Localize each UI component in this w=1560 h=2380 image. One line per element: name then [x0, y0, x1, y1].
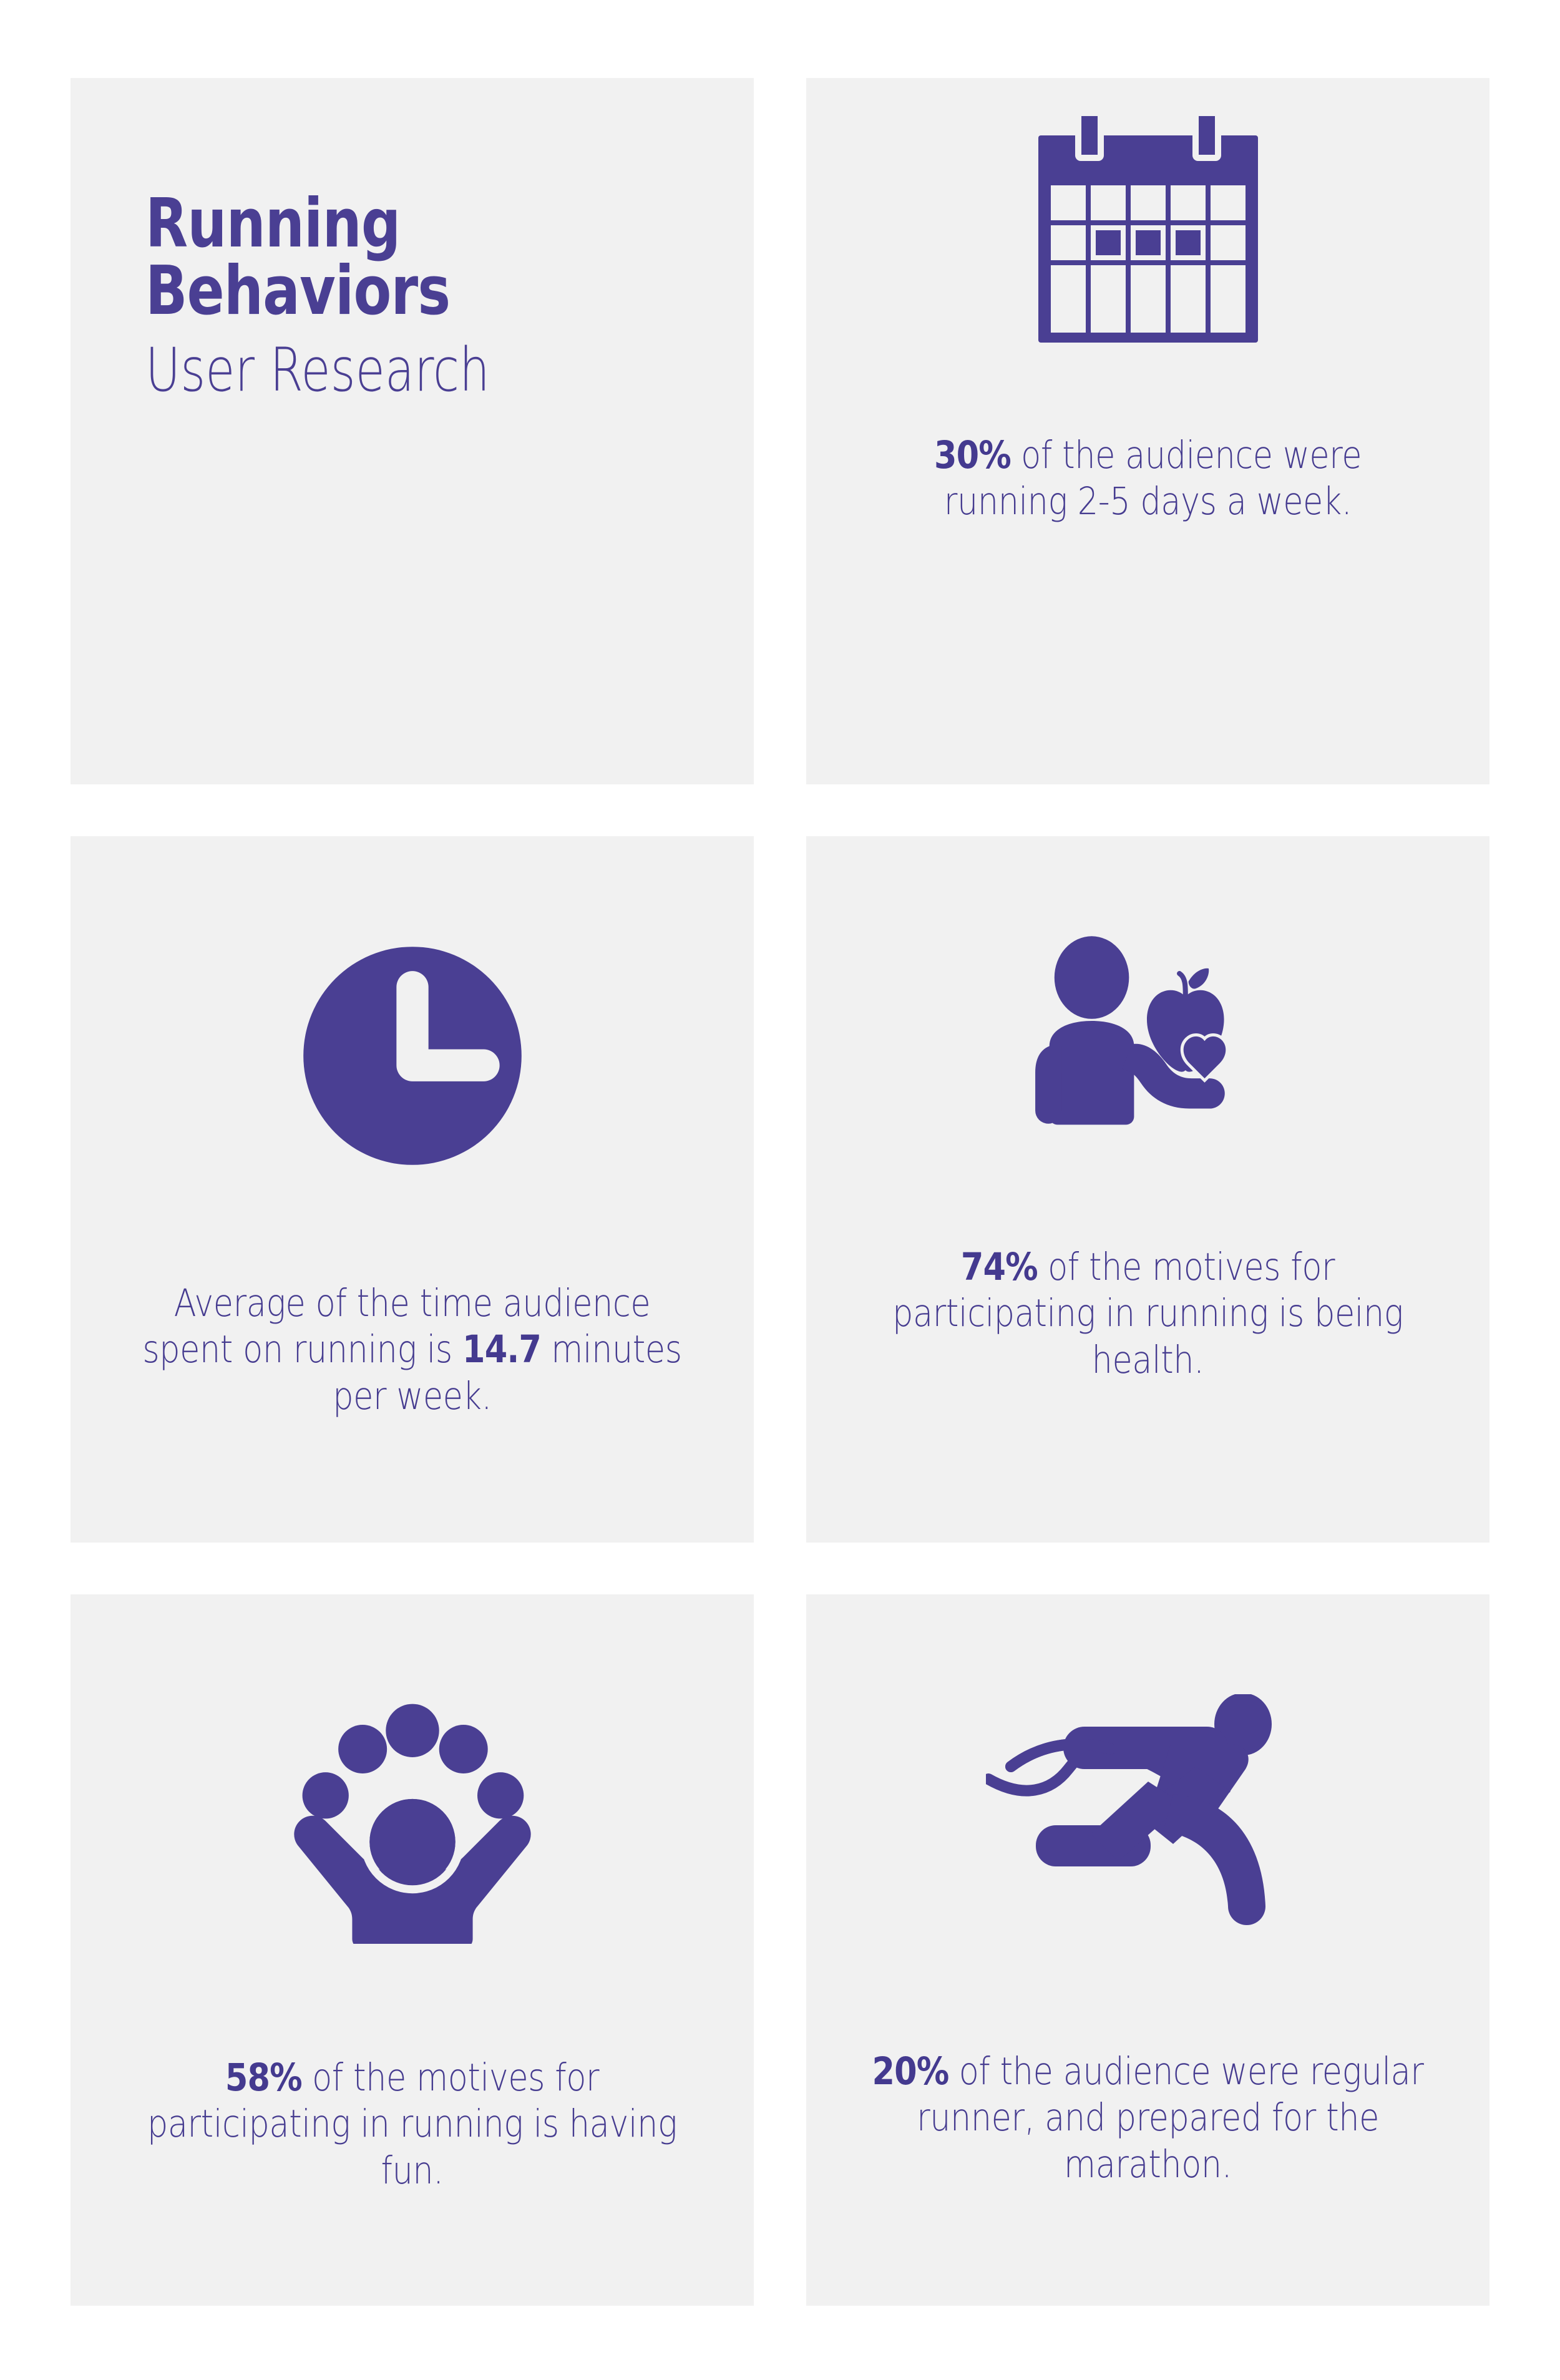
stat-card-fun-motive: 58% of the motives for participating in …: [71, 1594, 754, 2306]
stat-card-duration: Average of the time audience spent on ru…: [71, 836, 754, 1543]
stat-card-health-motive: 74% of the motives for participating in …: [806, 836, 1489, 1543]
stat-caption-text-marathon: of the audience were regular runner, and…: [917, 2049, 1423, 2187]
stat-caption-duration: Average of the time audience spent on ru…: [119, 1280, 706, 1420]
running-athlete-icon: [986, 1694, 1310, 1944]
stat-card-frequency: 30% of the audience were running 2-5 day…: [806, 78, 1489, 784]
infographic-page: Running Behaviors User Research: [0, 0, 1560, 2380]
stat-caption-health-motive: 74% of the motives for participating in …: [854, 1244, 1442, 1383]
stat-value-duration: 14.7: [462, 1327, 541, 1372]
calendar-icon: [1023, 103, 1273, 353]
clock-icon: [294, 937, 531, 1174]
person-with-apple-icon: [1017, 931, 1279, 1137]
title-card: Running Behaviors User Research: [71, 78, 754, 784]
celebrating-person-icon: [288, 1700, 537, 1944]
stat-caption-fun-motive: 58% of the motives for participating in …: [119, 2055, 706, 2194]
stat-value-fun-motive: 58%: [225, 2056, 302, 2100]
stat-value-marathon: 20%: [872, 2049, 948, 2094]
page-title: Running Behaviors: [145, 190, 450, 325]
page-subtitle: User Research: [145, 339, 490, 402]
stat-card-marathon: 20% of the audience were regular runner,…: [806, 1594, 1489, 2306]
stat-card-grid: Running Behaviors User Research: [71, 78, 1489, 2306]
stat-value-frequency: 30%: [934, 433, 1011, 477]
stat-caption-marathon: 20% of the audience were regular runner,…: [854, 2049, 1442, 2188]
stat-caption-frequency: 30% of the audience were running 2-5 day…: [854, 432, 1442, 525]
stat-value-health-motive: 74%: [961, 1245, 1038, 1289]
